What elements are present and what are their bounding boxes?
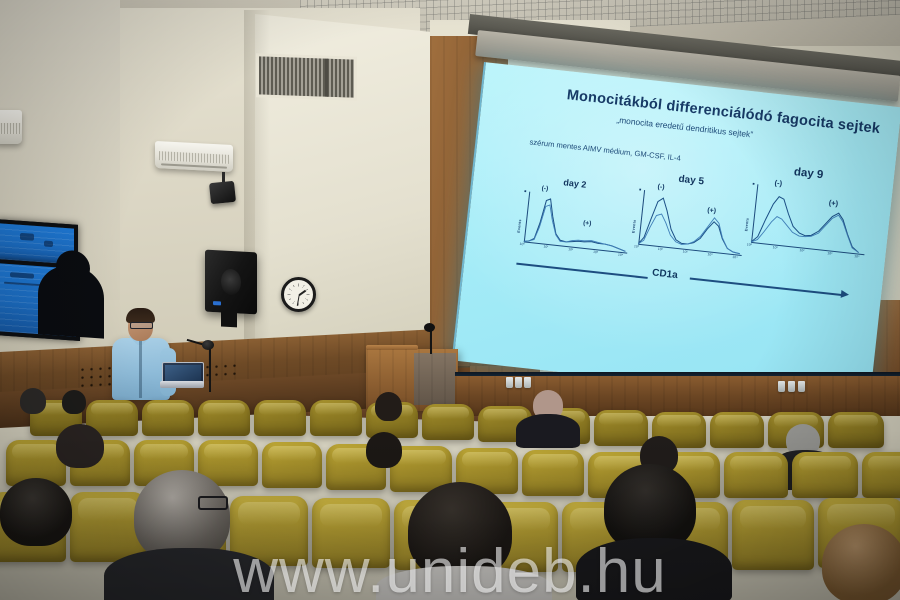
seat	[522, 450, 584, 496]
laptop-keyboard	[160, 381, 204, 388]
ac-grill	[0, 123, 21, 135]
chart-panel-day-2: day 2 ■ Events (-) (+) 10⁰ 10¹ 10² 10³ 1…	[511, 175, 637, 267]
vent-slats	[259, 56, 354, 97]
peak-label-neg-day-2: (-)	[541, 185, 548, 193]
xtick-day-9-4: 10⁴	[854, 254, 860, 259]
audience-shoulders-foreground	[576, 538, 732, 600]
audience-shoulders-foreground	[376, 566, 552, 600]
ac-vane	[161, 163, 227, 169]
audience-head	[56, 424, 104, 468]
xtick-day-9-1: 10¹	[772, 245, 777, 250]
chart-panel-day-9: day 9 ■ Events (-) (+) 10⁰ 10¹ 10² 10³ 1…	[738, 167, 877, 273]
wall-monitor-bottom	[0, 259, 80, 341]
lecture-hall-photo: Monocitákból differenciálódó fagocita se…	[0, 0, 900, 600]
seat	[262, 442, 322, 488]
ac-grill	[159, 151, 229, 164]
seat	[828, 412, 884, 448]
water-glass	[515, 377, 522, 388]
audience-shoulders-foreground	[104, 548, 274, 600]
monitor-content-blob	[20, 233, 34, 241]
peak-label-neg-day-5: (-)	[657, 183, 665, 191]
xtick-day-2-2: 10²	[568, 247, 573, 252]
audience-glasses	[198, 496, 228, 510]
seat	[732, 500, 814, 570]
seat	[710, 412, 764, 448]
peak-label-neg-day-9: (-)	[774, 178, 782, 188]
presenter-hair	[126, 308, 155, 323]
water-glass	[788, 381, 795, 392]
peak-label-pos-day-2: (+)	[583, 220, 592, 228]
projection-area: Monocitákból differenciálódó fagocita se…	[470, 40, 900, 380]
seat	[310, 400, 362, 436]
xtick-day-9-2: 10²	[799, 248, 804, 253]
seat	[724, 452, 788, 498]
audience-head-foreground-blonde	[822, 524, 900, 600]
seat	[422, 404, 474, 440]
seat	[862, 452, 900, 498]
chart-panel-day-5: day 5 ■ Events (-) (+) 10⁰ 10¹ 10² 10³ 1…	[626, 173, 752, 269]
peak-label-pos-day-5: (+)	[707, 207, 716, 215]
wall-clock	[281, 277, 316, 312]
xtick-day-9-0: 10⁰	[747, 242, 753, 247]
presenter-mic-stand	[209, 348, 211, 392]
vent-divider	[325, 59, 328, 97]
xtick-day-2-0: 10⁰	[519, 242, 525, 247]
ceiling-vent	[256, 53, 357, 101]
xtick-day-5-2: 10²	[682, 250, 687, 255]
xtick-day-5-1: 10¹	[658, 247, 663, 252]
seat	[198, 400, 250, 436]
seat	[254, 400, 306, 436]
seat	[792, 452, 858, 498]
wall-speaker	[205, 250, 257, 315]
audience-shoulders	[516, 414, 580, 448]
presenter-glasses	[130, 322, 153, 329]
peak-label-pos-day-9: (+)	[828, 198, 838, 208]
presenter-mic-head	[202, 340, 214, 350]
speaker-cone	[221, 268, 241, 295]
audience-head	[375, 392, 402, 421]
xtick-day-2-1: 10¹	[543, 245, 548, 250]
stage-mic-stand	[430, 330, 432, 354]
seat	[142, 400, 194, 436]
water-glass	[524, 377, 531, 388]
xtick-day-5-4: 10⁴	[732, 255, 738, 260]
seat	[594, 410, 648, 446]
water-glass	[798, 381, 805, 392]
speaker-bracket	[221, 310, 237, 327]
projection-screen: Monocitákból differenciálódó fagocita se…	[452, 62, 900, 406]
presenter-shirt-placket	[139, 340, 142, 398]
air-conditioner-unit-left	[0, 110, 22, 144]
air-conditioner-unit-center	[155, 141, 233, 172]
ceiling-speaker	[209, 181, 236, 204]
xtick-day-2-4: 10⁴	[618, 253, 624, 258]
seat	[312, 498, 390, 568]
audience-head	[20, 388, 46, 414]
xtick-day-5-3: 10³	[707, 252, 712, 257]
xtick-day-5-0: 10⁰	[634, 244, 640, 249]
water-glass	[506, 377, 513, 388]
speaker-led	[213, 301, 221, 305]
xtick-day-9-3: 10³	[827, 251, 832, 256]
audience-head	[366, 432, 402, 468]
laptop-display	[165, 365, 201, 382]
monitor-content-blob	[44, 240, 53, 247]
stage-mic-head	[424, 323, 435, 332]
audience-head	[62, 390, 86, 414]
audience-head-left	[0, 478, 72, 546]
cd1a-axis-arrow	[841, 290, 850, 299]
water-glass	[778, 381, 785, 392]
xtick-day-2-3: 10³	[593, 250, 598, 255]
